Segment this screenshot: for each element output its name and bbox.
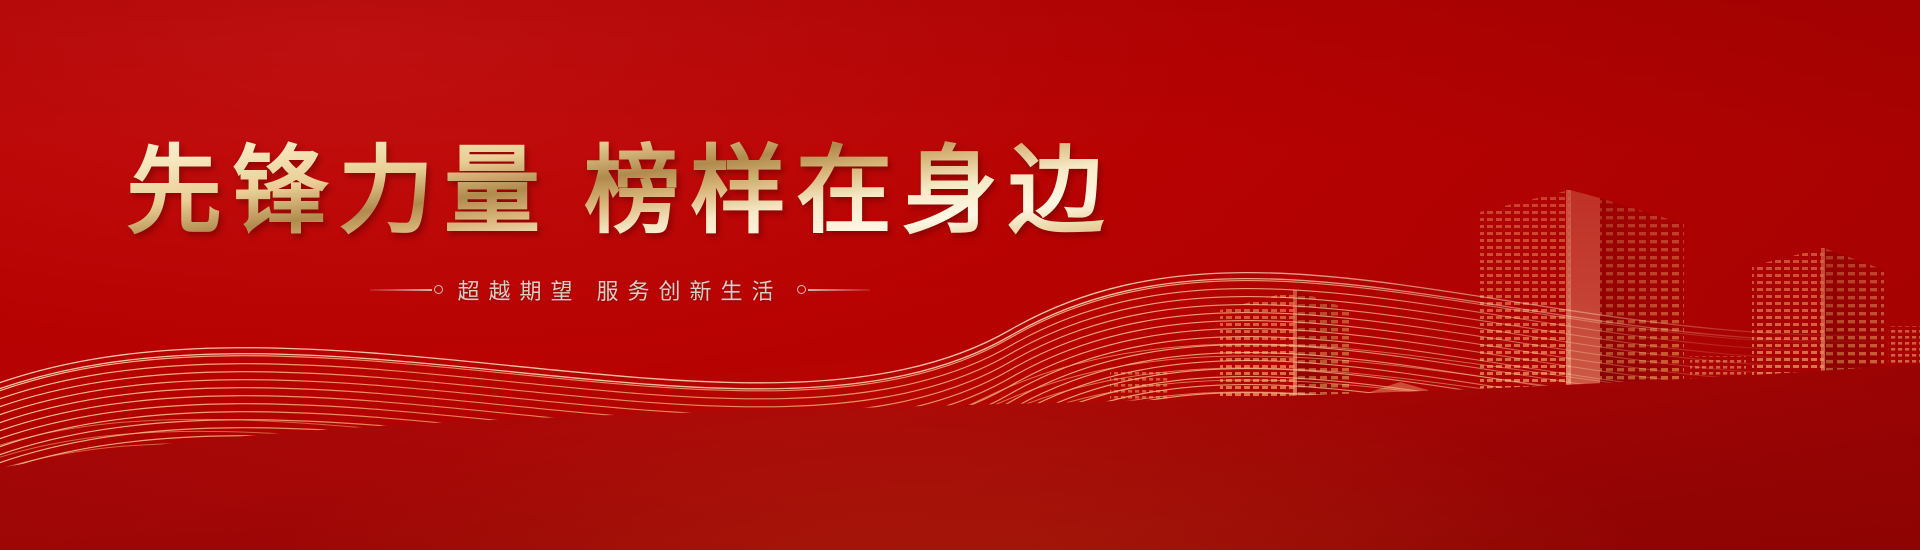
page-title: 先锋力量 榜样在身边 (0, 140, 1240, 244)
subtitle-row: 超越期望 服务创新生活 (0, 274, 1240, 306)
banner-root: 先锋力量 榜样在身边 超越期望 服务创新生活 (0, 0, 1920, 550)
page-subtitle: 超越期望 服务创新生活 (457, 274, 782, 306)
subtitle-rule-right-icon (797, 285, 870, 294)
subtitle-rule-left-icon (370, 285, 443, 294)
headline-block: 先锋力量 榜样在身边 超越期望 服务创新生活 (0, 140, 1240, 306)
